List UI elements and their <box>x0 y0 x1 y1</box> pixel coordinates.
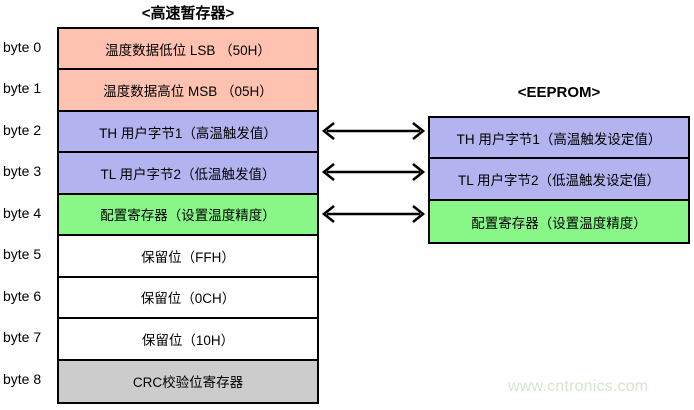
scratchpad-row-byte7: 保留位（10H） <box>59 319 317 360</box>
byte-label-2: byte 2 <box>0 110 55 151</box>
eeprom-row-tl: TL 用户字节2（低温触发设定值） <box>430 159 688 200</box>
scratchpad-row-byte3: TL 用户字节2（低温触发值） <box>59 153 317 194</box>
scratchpad-row-byte8: CRC校验位寄存器 <box>59 361 317 402</box>
scratchpad-row-byte1: 温度数据高位 MSB （05H） <box>59 70 317 111</box>
byte-label-1: byte 1 <box>0 68 55 109</box>
byte-label-0: byte 0 <box>0 27 55 68</box>
byte-label-5: byte 5 <box>0 234 55 275</box>
byte-label-4: byte 4 <box>0 193 55 234</box>
eeprom-table: TH 用户字节1（高温触发设定值） TL 用户字节2（低温触发设定值） 配置寄存… <box>428 116 690 244</box>
scratchpad-row-byte5: 保留位（FFH） <box>59 236 317 277</box>
double-arrow-tl-icon <box>319 151 428 192</box>
byte-label-7: byte 7 <box>0 317 55 358</box>
scratchpad-row-byte6: 保留位（0CH） <box>59 278 317 319</box>
double-arrow-config-icon <box>319 193 428 234</box>
scratchpad-row-byte0: 温度数据低位 LSB （50H） <box>59 29 317 70</box>
scratchpad-table: 温度数据低位 LSB （50H） 温度数据高位 MSB （05H） TH 用户字… <box>57 27 319 404</box>
byte-label-3: byte 3 <box>0 151 55 192</box>
byte-label-6: byte 6 <box>0 276 55 317</box>
diagram-canvas: <高速暂存器> <EEPROM> byte 0 byte 1 byte 2 by… <box>0 0 694 410</box>
connector-arrows <box>319 27 428 400</box>
double-arrow-th-icon <box>319 110 428 151</box>
scratchpad-title: <高速暂存器> <box>57 2 319 23</box>
eeprom-row-config: 配置寄存器（设置温度精度） <box>430 201 688 242</box>
eeprom-row-th: TH 用户字节1（高温触发设定值） <box>430 118 688 159</box>
watermark: www.cntronics.com <box>508 378 648 396</box>
eeprom-title: <EEPROM> <box>428 84 690 101</box>
byte-label-column: byte 0 byte 1 byte 2 byte 3 byte 4 byte … <box>0 27 55 400</box>
scratchpad-row-byte2: TH 用户字节1（高温触发值） <box>59 112 317 153</box>
scratchpad-row-byte4: 配置寄存器（设置温度精度） <box>59 195 317 236</box>
byte-label-8: byte 8 <box>0 359 55 400</box>
